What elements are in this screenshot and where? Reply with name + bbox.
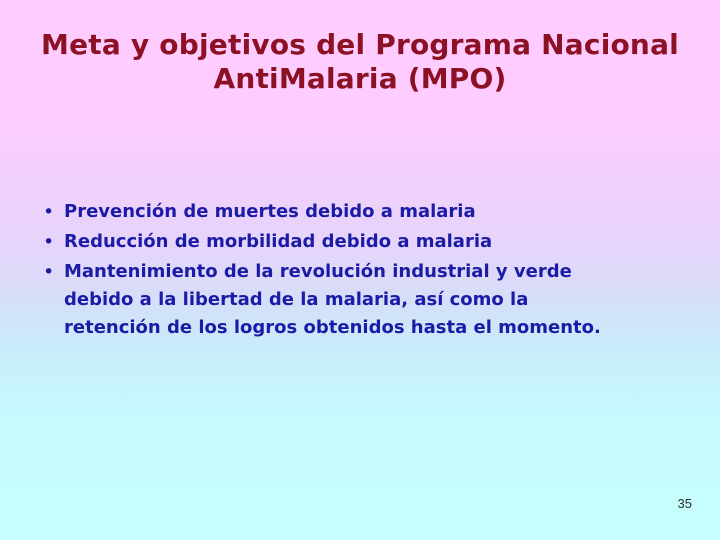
list-item-text: Reducción de morbilidad debido a malaria [64, 228, 680, 256]
list-item-text: Mantenimiento de la revolución industria… [64, 258, 680, 342]
slide-canvas: Meta y objetivos del Programa Nacional A… [0, 0, 720, 540]
list-item-line: Prevención de muertes debido a malaria [64, 198, 680, 226]
page-title: Meta y objetivos del Programa Nacional A… [30, 28, 690, 96]
page-title-line-1: Meta y objetivos del Programa Nacional [30, 28, 690, 62]
list-item: • Prevención de muertes debido a malaria [40, 198, 680, 226]
list-item-line: Reducción de morbilidad debido a malaria [64, 228, 680, 256]
page-number: 35 [678, 496, 692, 512]
list-item-line: debido a la libertad de la malaria, así … [64, 286, 680, 314]
bullet-point-icon: • [40, 198, 64, 226]
bullet-point-icon: • [40, 228, 64, 256]
list-item-text: Prevención de muertes debido a malaria [64, 198, 680, 226]
bullet-list: • Prevención de muertes debido a malaria… [40, 198, 680, 344]
list-item: • Mantenimiento de la revolución industr… [40, 258, 680, 342]
list-item-line: Mantenimiento de la revolución industria… [64, 258, 680, 286]
bullet-point-icon: • [40, 258, 64, 286]
list-item-line: retención de los logros obtenidos hasta … [64, 314, 680, 342]
page-title-line-2: AntiMalaria (MPO) [30, 62, 690, 96]
list-item: • Reducción de morbilidad debido a malar… [40, 228, 680, 256]
